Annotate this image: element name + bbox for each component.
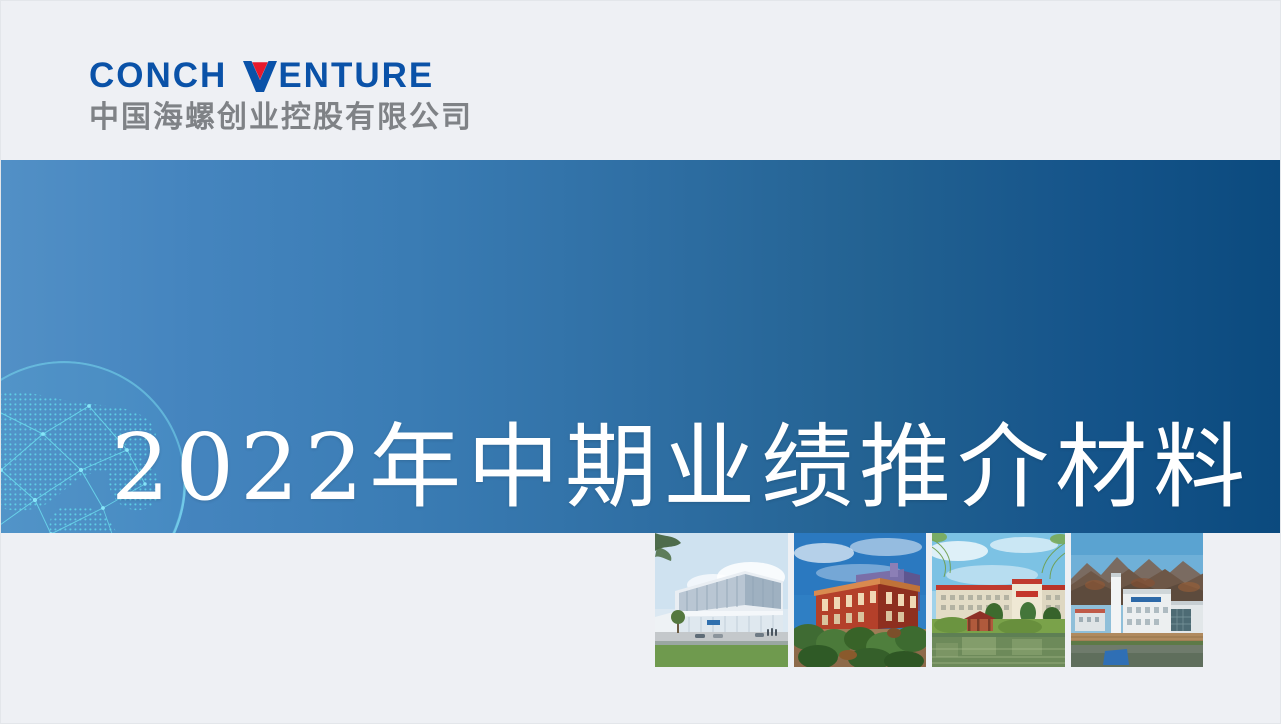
photo-strip [655,533,1203,667]
title-banner: 2022年中期业绩推介材料 [1,160,1281,533]
logo-wordmark-conch: CONCH [89,58,227,93]
logo-wordmark-venture: ENTURE [278,58,434,93]
red-brick-industrial-plant [794,533,927,667]
slide-header: CONCH ENTURE 中国海螺创业控股有限公司 [1,1,1281,159]
v-triangle-logo-icon [243,58,277,92]
slide-title: 2022年中期业绩推介材料 [111,418,1201,517]
company-logo: CONCH ENTURE 中国海螺创业控股有限公司 [89,57,509,134]
campus-with-pond-pavilion [932,533,1065,667]
factory-against-mountains [1071,533,1204,667]
logo-company-name-cn: 中国海螺创业控股有限公司 [89,102,509,134]
logo-wordmark: CONCH ENTURE [89,57,509,93]
presentation-slide: CONCH ENTURE 中国海螺创业控股有限公司 [0,0,1281,724]
modern-white-office-building [655,533,788,667]
